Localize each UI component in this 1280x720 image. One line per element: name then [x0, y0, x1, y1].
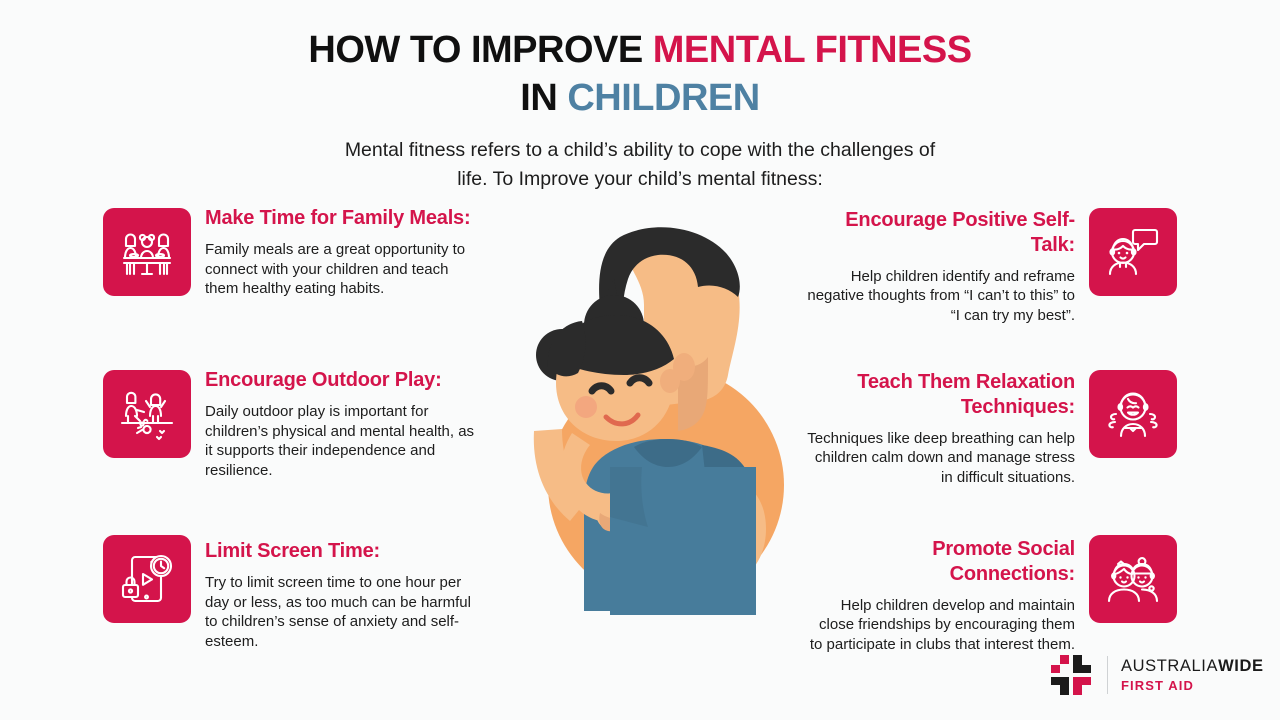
tip-body: Help children develop and maintain close…	[805, 596, 1075, 655]
positive-self-talk-icon	[1089, 208, 1177, 296]
family-meal-icon	[103, 208, 191, 296]
parent-hugging-child-illustration	[488, 215, 818, 615]
right-tips-column: Encourage Positive Self-Talk: Help child…	[805, 198, 1185, 675]
tip-body: Try to limit screen time to one hour per…	[205, 573, 475, 652]
title-part-3: IN	[520, 77, 567, 119]
logo-tagline: FIRST AID	[1121, 679, 1264, 692]
tip-make-time-for-family-meals: Make Time for Family Meals: Family meals…	[95, 198, 475, 360]
logo-wordmark: AUSTRALIAWIDE FIRST AID	[1121, 658, 1264, 693]
tip-text-block: Encourage Outdoor Play: Daily outdoor pl…	[205, 360, 475, 481]
tip-limit-screen-time: Limit Screen Time: Try to limit screen t…	[95, 525, 475, 675]
tip-body: Help children identify and reframe negat…	[805, 267, 1075, 326]
title-part-1: HOW TO IMPROVE	[308, 29, 652, 71]
tip-encourage-outdoor-play: Encourage Outdoor Play: Daily outdoor pl…	[95, 360, 475, 525]
relaxation-breathing-icon	[1089, 370, 1177, 458]
logo-name-bold: WIDE	[1218, 657, 1263, 675]
page-title: HOW TO IMPROVE MENTAL FITNESS IN CHILDRE…	[0, 26, 1280, 123]
tip-text-block: Promote Social Connections: Help childre…	[805, 525, 1075, 655]
logo-name-light: AUSTRALIA	[1121, 657, 1218, 675]
tip-title: Encourage Outdoor Play:	[205, 368, 475, 393]
tip-text-block: Teach Them Relaxation Techniques: Techni…	[805, 360, 1075, 488]
tip-title: Teach Them Relaxation Techniques:	[805, 370, 1075, 420]
australia-wide-first-aid-cross-logo	[1048, 652, 1094, 698]
tip-body: Techniques like deep breathing can help …	[805, 429, 1075, 488]
tip-text-block: Limit Screen Time: Try to limit screen t…	[205, 525, 475, 652]
left-tips-column: Make Time for Family Meals: Family meals…	[95, 198, 475, 675]
page-subtitle: Mental fitness refers to a child’s abili…	[340, 136, 940, 193]
tip-title: Encourage Positive Self-Talk:	[805, 208, 1075, 258]
tip-title: Limit Screen Time:	[205, 539, 475, 564]
screen-time-icon	[103, 535, 191, 623]
tip-body: Daily outdoor play is important for chil…	[205, 402, 475, 481]
tip-title: Make Time for Family Meals:	[205, 206, 475, 231]
logo-divider	[1107, 656, 1108, 694]
infographic-page: HOW TO IMPROVE MENTAL FITNESS IN CHILDRE…	[0, 0, 1280, 720]
outdoor-play-icon	[103, 370, 191, 458]
tip-body: Family meals are a great opportunity to …	[205, 240, 475, 299]
tip-text-block: Make Time for Family Meals: Family meals…	[205, 198, 475, 299]
tip-encourage-positive-self-talk: Encourage Positive Self-Talk: Help child…	[805, 198, 1185, 360]
tip-title: Promote Social Connections:	[805, 537, 1075, 587]
australia-wide-first-aid-logo: AUSTRALIAWIDE FIRST AID	[1048, 652, 1264, 698]
title-part-4: CHILDREN	[567, 77, 759, 119]
social-connections-icon	[1089, 535, 1177, 623]
tip-text-block: Encourage Positive Self-Talk: Help child…	[805, 198, 1075, 326]
tip-teach-them-relaxation-techniques: Teach Them Relaxation Techniques: Techni…	[805, 360, 1185, 525]
title-part-2: MENTAL FITNESS	[653, 29, 972, 71]
